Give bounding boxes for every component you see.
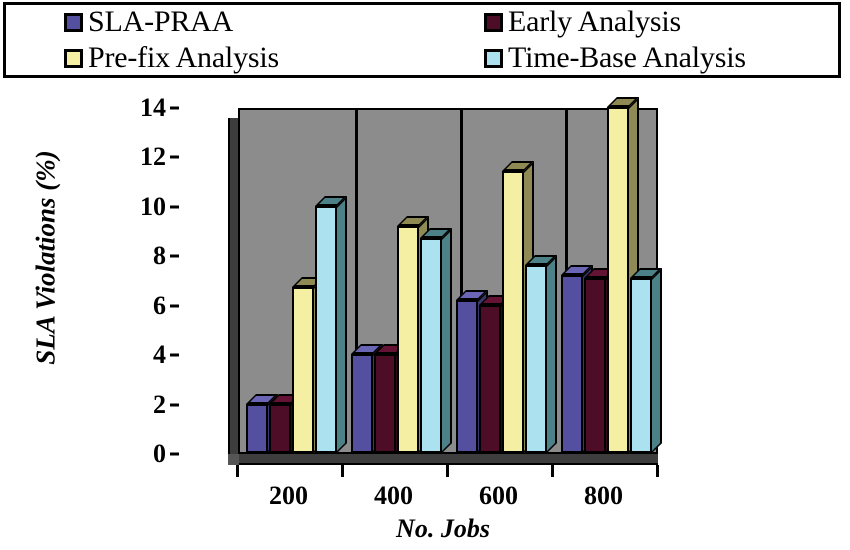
bar-face xyxy=(479,305,501,453)
y-tick-label: 2 xyxy=(110,392,166,418)
bar-face xyxy=(315,206,337,453)
y-tick-label: 14 xyxy=(110,95,166,121)
x-tick-mark xyxy=(656,465,659,477)
bar-face xyxy=(246,404,268,453)
bar-side xyxy=(547,255,557,453)
bar-pre-fix-analysis-200 xyxy=(292,277,314,453)
legend-swatch-icon-early-analysis xyxy=(484,13,503,32)
y-tick-mark xyxy=(170,205,179,208)
legend-label-sla-praa: SLA-PRAA xyxy=(88,7,233,37)
plot-floor xyxy=(228,454,658,465)
y-tick-label: 4 xyxy=(110,342,166,368)
x-tick-label: 400 xyxy=(344,481,444,511)
bar-face xyxy=(269,404,291,453)
x-axis-title: No. Jobs xyxy=(228,514,658,544)
bar-face xyxy=(584,278,606,453)
bar-sla-praa-400 xyxy=(351,344,373,453)
bar-chart: SLA Violations (%) 02468101214 200400600… xyxy=(0,82,850,550)
y-tick-mark xyxy=(170,403,179,406)
x-tick-mark xyxy=(341,465,344,477)
x-tick-label: 200 xyxy=(239,481,339,511)
legend-entry-time-base-analysis: Time-Base Analysis xyxy=(484,43,746,73)
bar-early-analysis-200 xyxy=(269,394,291,453)
y-tick-mark xyxy=(170,107,179,110)
bar-time-base-analysis-800 xyxy=(630,268,652,453)
legend-label-early-analysis: Early Analysis xyxy=(508,7,681,37)
y-tick-mark xyxy=(170,453,179,456)
bar-face xyxy=(607,107,629,453)
bar-face xyxy=(525,265,547,453)
y-tick-mark xyxy=(170,354,179,357)
plot-area xyxy=(228,108,658,464)
bar-sla-praa-800 xyxy=(561,265,583,453)
y-tick-label: 8 xyxy=(110,243,166,269)
bar-face xyxy=(292,287,314,453)
bar-early-analysis-800 xyxy=(584,268,606,453)
bar-side xyxy=(337,196,347,453)
bar-face xyxy=(374,354,396,453)
bar-face xyxy=(502,171,524,453)
y-axis-title: SLA Violations (%) xyxy=(31,128,62,388)
y-tick-mark xyxy=(170,156,179,159)
bar-pre-fix-analysis-600 xyxy=(502,161,524,453)
bar-sla-praa-200 xyxy=(246,394,268,453)
x-tick-label: 800 xyxy=(554,481,654,511)
chart-legend: SLA-PRAA Early Analysis Pre-fix Analysis… xyxy=(3,2,841,78)
bar-sla-praa-600 xyxy=(456,290,478,453)
bar-side xyxy=(442,228,452,453)
bar-face xyxy=(630,278,652,453)
y-axis-ticks: 02468101214 xyxy=(110,82,166,550)
bar-time-base-analysis-600 xyxy=(525,255,547,453)
bar-pre-fix-analysis-400 xyxy=(397,216,419,453)
x-tick-label: 600 xyxy=(449,481,549,511)
bar-face xyxy=(561,275,583,453)
bar-early-analysis-400 xyxy=(374,344,396,453)
bar-face xyxy=(397,226,419,453)
x-tick-mark xyxy=(551,465,554,477)
y-tick-label: 0 xyxy=(110,441,166,467)
y-tick-mark xyxy=(170,304,179,307)
legend-label-time-base-analysis: Time-Base Analysis xyxy=(508,43,746,73)
y-tick-label: 6 xyxy=(110,293,166,319)
y-tick-label: 12 xyxy=(110,144,166,170)
legend-entry-pre-fix-analysis: Pre-fix Analysis xyxy=(64,43,279,73)
x-tick-mark xyxy=(236,465,239,477)
legend-label-pre-fix-analysis: Pre-fix Analysis xyxy=(88,43,279,73)
bar-face xyxy=(351,354,373,453)
bar-face xyxy=(456,300,478,453)
bar-time-base-analysis-400 xyxy=(420,228,442,453)
legend-entry-early-analysis: Early Analysis xyxy=(484,7,681,37)
bar-time-base-analysis-200 xyxy=(315,196,337,453)
x-tick-mark xyxy=(446,465,449,477)
bar-face xyxy=(420,238,442,453)
bar-early-analysis-600 xyxy=(479,295,501,453)
legend-swatch-icon-time-base-analysis xyxy=(484,49,503,68)
legend-entry-sla-praa: SLA-PRAA xyxy=(64,7,233,37)
legend-swatch-icon-pre-fix-analysis xyxy=(64,49,83,68)
legend-swatch-icon-sla-praa xyxy=(64,13,83,32)
y-tick-mark xyxy=(170,255,179,258)
bar-pre-fix-analysis-800 xyxy=(607,97,629,453)
y-tick-label: 10 xyxy=(110,194,166,220)
bar-side xyxy=(652,268,662,453)
